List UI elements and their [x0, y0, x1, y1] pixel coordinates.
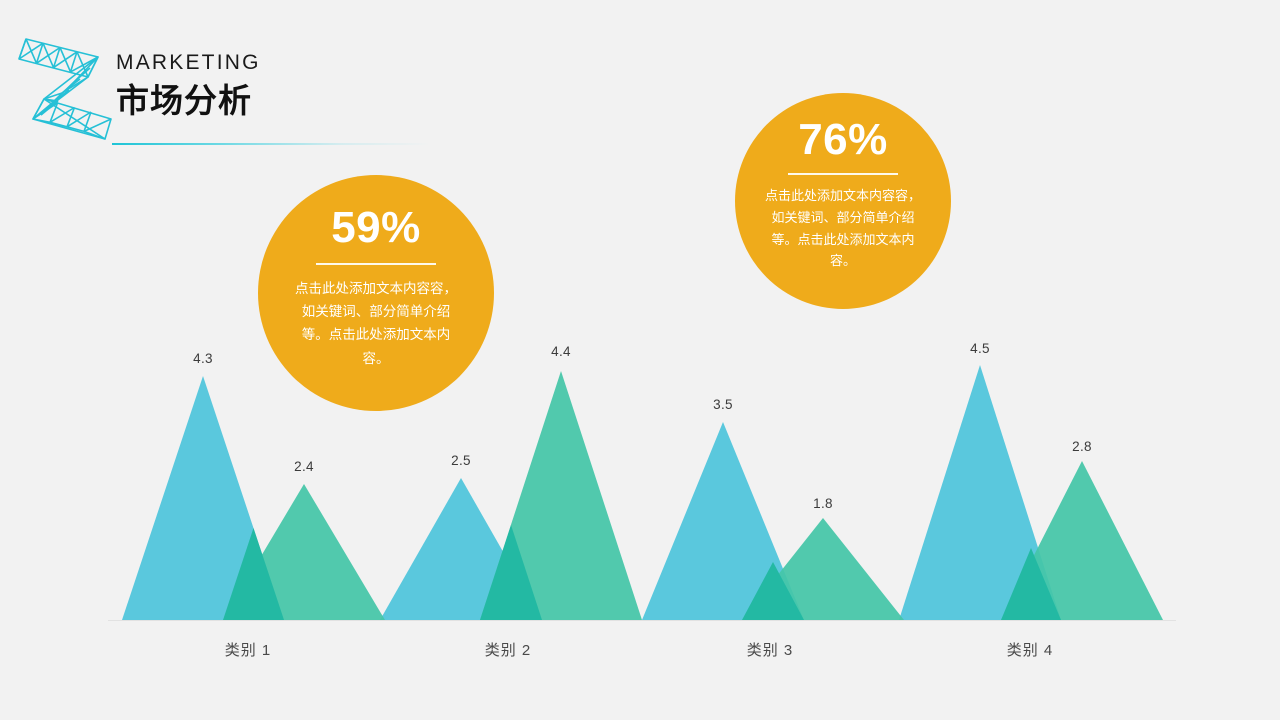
stat-bubble-percent: 59%: [331, 206, 421, 250]
value-label: 4.3: [193, 351, 213, 366]
stat-bubble-body: 点击此处添加文本内容容，如关键词、部分简单介绍等。点击此处添加文本内容。: [292, 278, 460, 371]
mountain-chart: 4.3 2.4 2.5 4.4 3.5 1.8 4.5 2.8 类别 1 类别 …: [0, 0, 1280, 720]
stat-bubble-59[interactable]: 59% 点击此处添加文本内容容，如关键词、部分简单介绍等。点击此处添加文本内容。: [258, 175, 494, 411]
value-label: 4.5: [970, 341, 990, 356]
stat-bubble-body: 点击此处添加文本内容容，如关键词、部分简单介绍等。点击此处添加文本内容。: [763, 186, 923, 273]
value-label: 3.5: [713, 397, 733, 412]
value-label: 2.8: [1072, 439, 1092, 454]
category-label: 类别 1: [225, 639, 272, 660]
stat-bubble-divider: [788, 173, 898, 175]
stat-bubble-percent: 76%: [798, 118, 888, 162]
stat-bubble-divider: [316, 263, 436, 265]
stat-bubble-76[interactable]: 76% 点击此处添加文本内容容，如关键词、部分简单介绍等。点击此处添加文本内容。: [735, 93, 951, 309]
value-label: 4.4: [551, 344, 571, 359]
category-label: 类别 4: [1007, 639, 1054, 660]
chart-baseline: [108, 620, 1176, 621]
value-label: 2.5: [451, 453, 471, 468]
value-label: 2.4: [294, 459, 314, 474]
slide-canvas: MARKETING 市场分析: [0, 0, 1280, 720]
category-label: 类别 2: [485, 639, 532, 660]
value-label: 1.8: [813, 496, 833, 511]
category-label: 类别 3: [747, 639, 794, 660]
